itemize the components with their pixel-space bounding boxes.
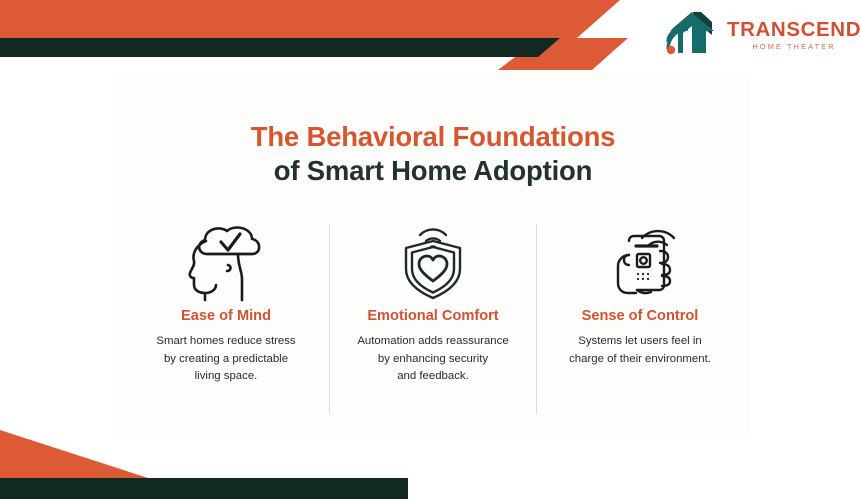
pillar-body-line: by creating a predictable [156,351,295,369]
pillar-sense-of-control: Sense of Control Systems let users feel … [537,218,743,368]
pillar-body: Systems let users feel in charge of thei… [569,333,711,368]
pillar-body-line: by enhancing security [357,351,508,369]
page-title-line2: of Smart Home Adoption [115,154,751,188]
bottom-orange-triangle [0,430,150,478]
pillars-row: Ease of Mind Smart homes reduce stress b… [123,218,743,418]
pillar-body: Smart homes reduce stress by creating a … [156,333,295,386]
pillar-title: Sense of Control [582,308,699,324]
slide-canvas: TRANSCEND HOME THEATER The Behavioral Fo… [0,0,860,499]
brand-tagline: HOME THEATER [752,43,835,50]
brand-wordmark: TRANSCEND HOME THEATER [727,20,860,51]
bottom-green-band [0,478,408,499]
pillar-title: Ease of Mind [181,308,271,324]
hand-remote-wifi-icon [596,218,684,306]
pillar-title: Emotional Comfort [367,308,498,324]
pillar-ease-of-mind: Ease of Mind Smart homes reduce stress b… [123,218,329,386]
pillar-body: Automation adds reassurance by enhancing… [357,333,508,386]
pillar-body-line: charge of their environment. [569,351,711,369]
pillar-body-line: Systems let users feel in [569,333,711,351]
pillar-body-line: Smart homes reduce stress [156,333,295,351]
brand-logo: TRANSCEND HOME THEATER [662,7,852,63]
house-wifi-icon [662,9,720,61]
top-green-band [0,38,560,57]
content-panel: The Behavioral Foundations of Smart Home… [115,74,751,434]
page-title: The Behavioral Foundations of Smart Home… [115,120,751,187]
pillar-emotional-comfort: Emotional Comfort Automation adds reassu… [330,218,536,386]
top-orange-band [0,0,620,38]
pillar-body-line: living space. [156,368,295,386]
head-brain-check-icon [182,218,270,306]
brand-name: TRANSCEND [727,20,860,41]
page-title-line1: The Behavioral Foundations [115,120,751,154]
pillar-body-line: Automation adds reassurance [357,333,508,351]
shield-heart-wifi-icon [389,218,477,306]
pillar-body-line: and feedback. [357,368,508,386]
